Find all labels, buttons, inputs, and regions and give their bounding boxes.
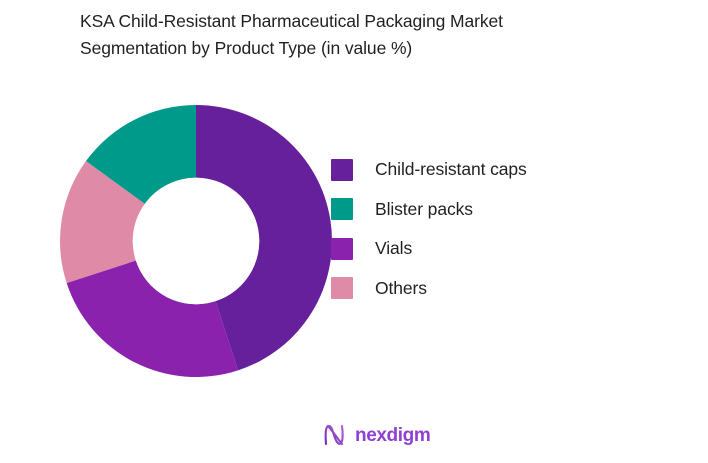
legend-item-label: Child-resistant caps — [375, 161, 527, 179]
legend-item-vials[interactable]: Vials — [331, 229, 631, 269]
nexdigm-n-icon — [322, 423, 348, 447]
legend-swatch-icon — [331, 238, 353, 260]
chart-canvas: KSA Child-Resistant Pharmaceutical Packa… — [0, 0, 708, 463]
legend-swatch-icon — [331, 198, 353, 220]
donut-chart — [60, 105, 332, 377]
donut-chart-svg — [60, 105, 332, 377]
legend-item-child-resistant-caps[interactable]: Child-resistant caps — [331, 150, 631, 190]
brand-logo: nexdigm — [322, 421, 430, 449]
chart-legend: Child-resistant caps Blister packs Vials… — [331, 150, 631, 308]
legend-item-label: Vials — [375, 240, 412, 258]
legend-item-blister-packs[interactable]: Blister packs — [331, 190, 631, 230]
legend-item-label: Blister packs — [375, 201, 473, 219]
legend-swatch-icon — [331, 159, 353, 181]
brand-name: nexdigm — [355, 426, 430, 445]
donut-hole — [133, 178, 259, 304]
legend-item-label: Others — [375, 280, 427, 298]
legend-item-others[interactable]: Others — [331, 269, 631, 309]
chart-title: KSA Child-Resistant Pharmaceutical Packa… — [80, 8, 640, 62]
legend-swatch-icon — [331, 277, 353, 299]
